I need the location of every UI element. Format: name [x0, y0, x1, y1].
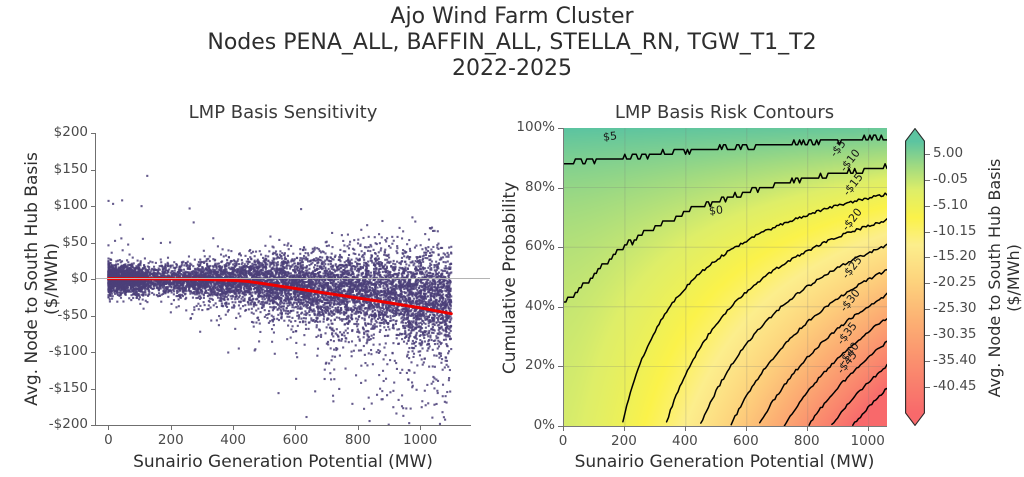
left-panel-x-spine — [95, 425, 471, 426]
y-tickmark — [91, 170, 96, 171]
y-tick-label: 0% — [495, 417, 555, 433]
x-tickmark — [685, 426, 686, 431]
y-tickmark — [91, 243, 96, 244]
x-tick-label: 800 — [777, 433, 837, 449]
x-tick-label: 200 — [141, 432, 201, 448]
y-tick-label: -$50 — [14, 307, 88, 323]
y-tick-label: -$100 — [14, 343, 88, 359]
colorbar-tickmark — [925, 283, 930, 284]
y-tick-label: $0 — [14, 270, 88, 286]
colorbar-tick-label: -10.15 — [933, 223, 977, 239]
x-tickmark — [746, 426, 747, 431]
zero-reference-line — [96, 278, 490, 279]
x-tick-label: 600 — [265, 432, 325, 448]
y-tickmark — [91, 425, 96, 426]
y-tickmark — [91, 352, 96, 353]
y-tick-label: -$150 — [14, 380, 88, 396]
x-tickmark — [807, 426, 808, 431]
y-tick-label: 20% — [495, 357, 555, 373]
left-panel-x-axis-label: Sunairio Generation Potential (MW) — [96, 452, 470, 472]
colorbar-tickmark — [925, 335, 930, 336]
y-tickmark — [91, 389, 96, 390]
right-panel-title: LMP Basis Risk Contours — [563, 102, 886, 123]
colorbar-tickmark — [925, 387, 930, 388]
y-tickmark — [91, 279, 96, 280]
figure-suptitle: Ajo Wind Farm Cluster Nodes PENA_ALL, BA… — [0, 4, 1024, 82]
y-tick-label: 60% — [495, 238, 555, 254]
colorbar-tick-label: -25.30 — [933, 300, 977, 316]
y-tick-label: $100 — [14, 197, 88, 213]
colorbar-tick-label: -30.35 — [933, 326, 977, 342]
x-tick-label: 1000 — [390, 432, 450, 448]
y-tickmark — [558, 188, 563, 189]
colorbar-tickmark — [925, 154, 930, 155]
colorbar-tick-label: -35.40 — [933, 352, 977, 368]
x-tick-label: 1000 — [838, 433, 898, 449]
y-tickmark — [91, 206, 96, 207]
y-tickmark — [91, 316, 96, 317]
colorbar-tickmark — [925, 206, 930, 207]
x-tickmark — [358, 425, 359, 430]
x-tickmark — [624, 426, 625, 431]
y-tickmark — [91, 133, 96, 134]
y-tick-label: $200 — [14, 124, 88, 140]
colorbar-tick-label: -20.25 — [933, 274, 977, 290]
colorbar-tick-label: -15.20 — [933, 248, 977, 264]
x-tick-label: 800 — [328, 432, 388, 448]
x-tickmark — [868, 426, 869, 431]
x-tick-label: 200 — [594, 433, 654, 449]
x-tickmark — [108, 425, 109, 430]
x-tickmark — [420, 425, 421, 430]
colorbar-tick-label: -5.10 — [933, 197, 968, 213]
x-tick-label: 0 — [533, 433, 593, 449]
colorbar-axis-label: Avg. Node to South Hub Basis ($/MWh) — [985, 128, 1023, 428]
contour-plot-area: $5$0-$5-$10-$15-$20-$25-$30-$35-$40-$45 — [563, 128, 887, 427]
y-tickmark — [558, 307, 563, 308]
x-tick-label: 600 — [716, 433, 776, 449]
colorbar-tick-label: -40.45 — [933, 378, 977, 394]
y-tick-label: $50 — [14, 234, 88, 250]
right-panel-y-axis-label: Cumulative Probability — [500, 128, 520, 428]
colorbar-gradient — [905, 128, 925, 426]
x-tickmark — [233, 425, 234, 430]
x-tickmark — [171, 425, 172, 430]
y-tick-label: 40% — [495, 298, 555, 314]
figure-canvas: Ajo Wind Farm Cluster Nodes PENA_ALL, BA… — [0, 0, 1024, 477]
colorbar-tickmark — [925, 257, 930, 258]
colorbar-tick-label: -0.05 — [933, 171, 968, 187]
colorbar — [905, 128, 925, 426]
colorbar-tickmark — [925, 361, 930, 362]
x-tickmark — [563, 426, 564, 431]
colorbar-tickmark — [925, 180, 930, 181]
left-panel-title: LMP Basis Sensitivity — [96, 102, 470, 123]
y-tick-label: $150 — [14, 161, 88, 177]
x-tickmark — [295, 425, 296, 430]
right-panel-x-axis-label: Sunairio Generation Potential (MW) — [563, 452, 886, 472]
y-tick-label: 80% — [495, 179, 555, 195]
y-tickmark — [558, 128, 563, 129]
y-tickmark — [558, 247, 563, 248]
y-tick-label: -$200 — [14, 416, 88, 432]
x-tick-label: 400 — [655, 433, 715, 449]
y-tickmark — [558, 366, 563, 367]
colorbar-tickmark — [925, 232, 930, 233]
x-tick-label: 400 — [203, 432, 263, 448]
colorbar-tick-label: 5.00 — [933, 145, 963, 161]
colorbar-tickmark — [925, 309, 930, 310]
x-tick-label: 0 — [78, 432, 138, 448]
y-tick-label: 100% — [495, 119, 555, 135]
